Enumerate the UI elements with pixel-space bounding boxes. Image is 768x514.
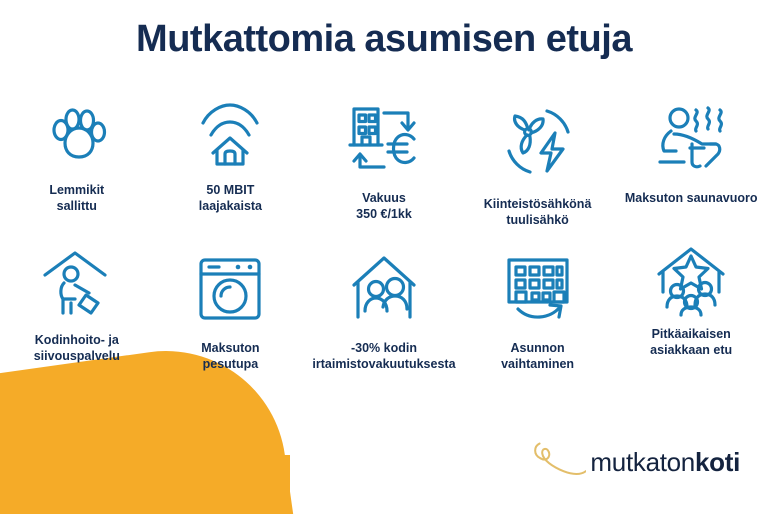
benefit-label: Kodinhoito- ja siivouspalvelu: [34, 332, 120, 364]
benefit-label: Pitkäaikaisen asiakkaan etu: [650, 326, 732, 358]
paw-print-icon: [44, 96, 110, 174]
benefit-label: Asunnon vaihtaminen: [501, 340, 574, 372]
benefit-item-laundry: Maksuton pesutupa: [154, 246, 308, 396]
benefit-item-apartment-swap: Asunnon vaihtaminen: [461, 246, 615, 396]
benefits-row-1: Lemmikit sallittu 50 MBIT laajakaista: [0, 96, 768, 246]
benefits-grid: Lemmikit sallittu 50 MBIT laajakaista: [0, 96, 768, 396]
benefit-label: Maksuton pesutupa: [201, 340, 259, 372]
benefit-label: Kiinteistösähkönä tuulisähkö: [484, 196, 592, 228]
benefit-label: -30% kodin irtaimistovakuutuksesta: [312, 340, 455, 372]
benefit-item-sauna: Maksuton saunavuoro: [614, 96, 768, 246]
page-title: Mutkattomia asumisen etuja: [0, 18, 768, 61]
poster-canvas: Mutkattomia asumisen etuja Lemmikit sall…: [0, 0, 768, 514]
benefits-row-2: Kodinhoito- ja siivouspalvelu Maksuton: [0, 246, 768, 396]
house-two-people-icon: [348, 246, 420, 332]
benefit-item-deposit: Vakuus 350 €/1kk: [307, 96, 461, 246]
benefit-label: Vakuus 350 €/1kk: [356, 190, 412, 222]
brand-logo: mutkatonkoti: [530, 438, 740, 486]
benefit-item-cleaning: Kodinhoito- ja siivouspalvelu: [0, 246, 154, 396]
building-euro-exchange-icon: [346, 96, 422, 182]
cleaning-person-roof-icon: [41, 246, 113, 324]
brand-logo-text: mutkatonkoti: [590, 447, 740, 478]
house-star-family-icon: [653, 246, 729, 318]
brand-name-light: mutkaton: [590, 447, 695, 477]
benefit-item-insurance: -30% kodin irtaimistovakuutuksesta: [307, 246, 461, 396]
benefit-item-loyalty: Pitkäaikaisen asiakkaan etu: [614, 246, 768, 396]
apartment-swap-arrow-icon: [502, 246, 574, 332]
benefit-item-pets: Lemmikit sallittu: [0, 96, 154, 246]
wifi-house-icon: [195, 96, 265, 174]
wind-turbine-bolt-icon: [501, 96, 575, 188]
benefit-item-wind-electricity: Kiinteistösähkönä tuulisähkö: [461, 96, 615, 246]
benefit-label: 50 MBIT laajakaista: [199, 182, 262, 214]
washing-machine-icon: [196, 246, 264, 332]
heart-squiggle-icon: [530, 438, 586, 486]
brand-name-bold: koti: [695, 447, 740, 477]
benefit-item-broadband: 50 MBIT laajakaista: [154, 96, 308, 246]
decorative-orange-blob-base: [0, 455, 290, 514]
benefit-label: Maksuton saunavuoro: [625, 190, 758, 206]
sauna-person-steam-icon: [654, 96, 728, 182]
benefit-label: Lemmikit sallittu: [49, 182, 104, 214]
